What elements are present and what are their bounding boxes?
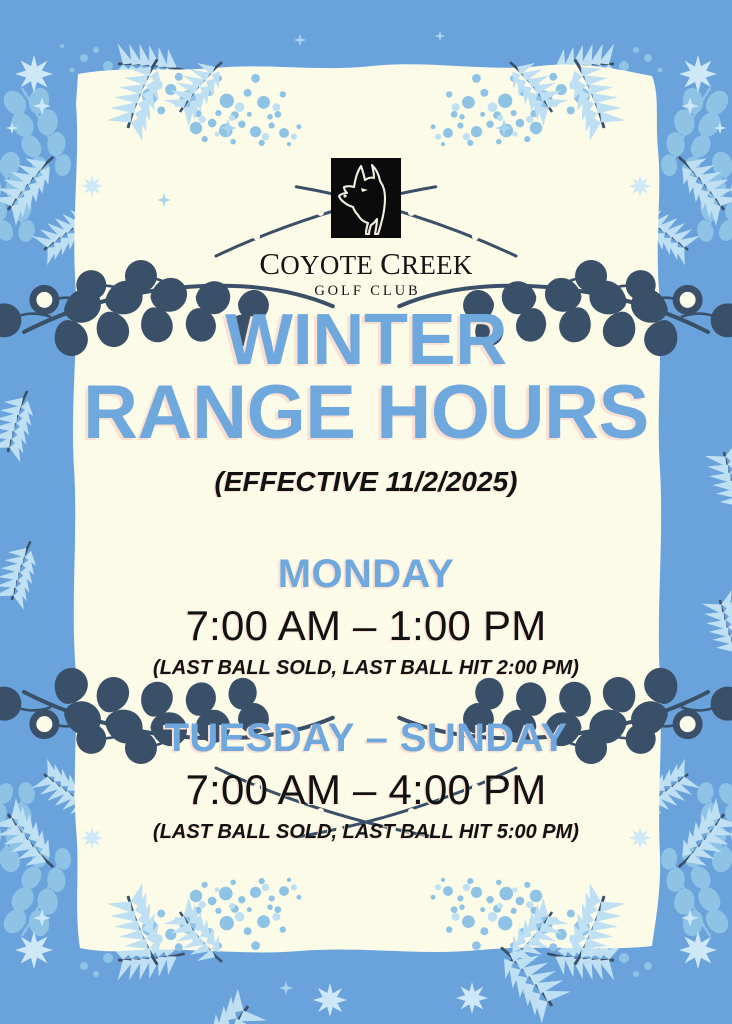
effective-date: (EFFECTIVE 11/2/2025): [0, 466, 732, 498]
day-label: MONDAY: [0, 552, 732, 597]
headline-line-2: RANGE HOURS: [0, 377, 732, 450]
day-note: (LAST BALL SOLD, LAST BALL HIT 2:00 PM): [0, 657, 732, 680]
day-hours-value: 7:00 AM – 4:00 PM: [0, 766, 732, 814]
club-logo: COYOTE CREEK GOLF CLUB: [0, 158, 732, 299]
logo-wordmark: COYOTE CREEK: [0, 248, 732, 279]
coyote-head-icon: [331, 158, 401, 238]
day-label: TUESDAY – SUNDAY: [0, 716, 732, 761]
winter-range-hours-poster: COYOTE CREEK GOLF CLUB WINTER RANGE HOUR…: [0, 0, 732, 1024]
day-hours-value: 7:00 AM – 1:00 PM: [0, 602, 732, 650]
schedule-block-tuesday-sunday: TUESDAY – SUNDAY 7:00 AM – 4:00 PM (LAST…: [0, 716, 732, 844]
logo-subtitle: GOLF CLUB: [0, 284, 732, 299]
headline-line-1: WINTER: [0, 306, 732, 375]
day-note: (LAST BALL SOLD, LAST BALL HIT 5:00 PM): [0, 821, 732, 844]
schedule-block-monday: MONDAY 7:00 AM – 1:00 PM (LAST BALL SOLD…: [0, 552, 732, 680]
poster-content: COYOTE CREEK GOLF CLUB WINTER RANGE HOUR…: [0, 0, 732, 1024]
